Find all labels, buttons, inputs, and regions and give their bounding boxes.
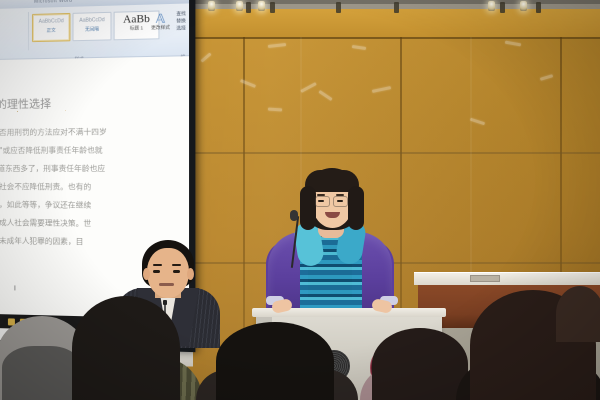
man-eye-right xyxy=(173,270,180,273)
slide-body-line: 知道东西多了，刑事责任年龄也应 xyxy=(0,162,185,175)
man-eyebrow-right xyxy=(172,264,181,266)
audience-head-far-right xyxy=(556,286,600,342)
man-eyebrow-left xyxy=(153,264,162,266)
man-face xyxy=(147,248,189,298)
style-name-text: 正文 xyxy=(33,27,69,34)
slide-body-line: 健，成人社会需要理性决策。世 xyxy=(0,216,185,231)
double-a-icon: 𝔸 xyxy=(147,12,174,25)
slide-body-line: 们应否用刑罚的方法应对不满十四岁 xyxy=(0,124,185,139)
ceiling-light xyxy=(208,1,215,11)
select-item[interactable]: 选择 xyxy=(176,24,189,32)
audience-head-inner xyxy=(2,346,82,400)
change-styles-button[interactable]: 𝔸 更改样式 xyxy=(147,12,174,31)
ceiling-fixture xyxy=(270,2,275,13)
man-mouth xyxy=(159,283,174,286)
audience-head-center xyxy=(216,322,334,400)
speaker-eyeglass-right xyxy=(333,196,348,207)
word-ribbon: AaBbCcDd 正文 AaBbCcDd 无间隔 AaBb 标题 1 𝔸 更改样… xyxy=(0,3,189,59)
slide-subheading: 路径的理性选择 xyxy=(0,93,185,112)
slide-heading: 效? xyxy=(0,65,185,88)
ceiling-fixture xyxy=(500,2,505,13)
style-gallery-item-normal[interactable]: AaBbCcDd 正文 xyxy=(32,13,70,42)
ceiling-fixture xyxy=(246,2,251,13)
style-gallery-item-nospacing[interactable]: AaBbCcDd 无间隔 xyxy=(72,12,111,41)
lecture-hall-photo: Microsoft Word AaBbCcDd 正文 AaBbCcDd 无间隔 … xyxy=(0,0,600,400)
man-ear-right xyxy=(187,268,194,280)
ceiling-light xyxy=(520,1,527,11)
ribbon-group-editing: 查找 替换 选择 xyxy=(176,9,189,31)
speaker-eyeglass-left xyxy=(315,196,330,207)
change-styles-label: 更改样式 xyxy=(147,25,174,32)
man-eye-left xyxy=(153,270,160,273)
ceiling-light xyxy=(258,1,265,11)
speaker-hair-side-left xyxy=(300,186,316,230)
audience-head-right-inner xyxy=(372,328,468,400)
desk-top-surface xyxy=(414,272,600,285)
slide-body-line: 在在社会不应降低刑责。也有的 xyxy=(0,180,185,194)
text-cursor: I xyxy=(14,285,16,292)
audience-head-dark xyxy=(72,296,180,400)
ceiling-light xyxy=(236,1,243,11)
ceiling-fixture xyxy=(536,2,541,13)
ceiling-fixture xyxy=(394,2,399,13)
desk-vent-slot xyxy=(470,275,500,282)
podium-microphone-head xyxy=(290,210,298,221)
ribbon-group-paragraph xyxy=(2,12,29,51)
style-sample-text: AaBbCcDd xyxy=(74,17,111,24)
ceiling-light xyxy=(488,1,495,11)
slide-body-line: 年龄，如此等等，争议还在继续 xyxy=(0,198,185,212)
man-ear-left xyxy=(143,268,150,280)
style-sample-text: AaBbCcDd xyxy=(33,18,69,25)
slide-body-line: 恶魔"或应否降低刑事责任年龄也就 xyxy=(0,143,185,157)
style-name-text: 无间隔 xyxy=(74,26,111,33)
ceiling-fixture xyxy=(336,2,341,13)
word-title-text: Microsoft Word xyxy=(34,0,72,5)
speaker-hair-side-right xyxy=(348,186,364,230)
